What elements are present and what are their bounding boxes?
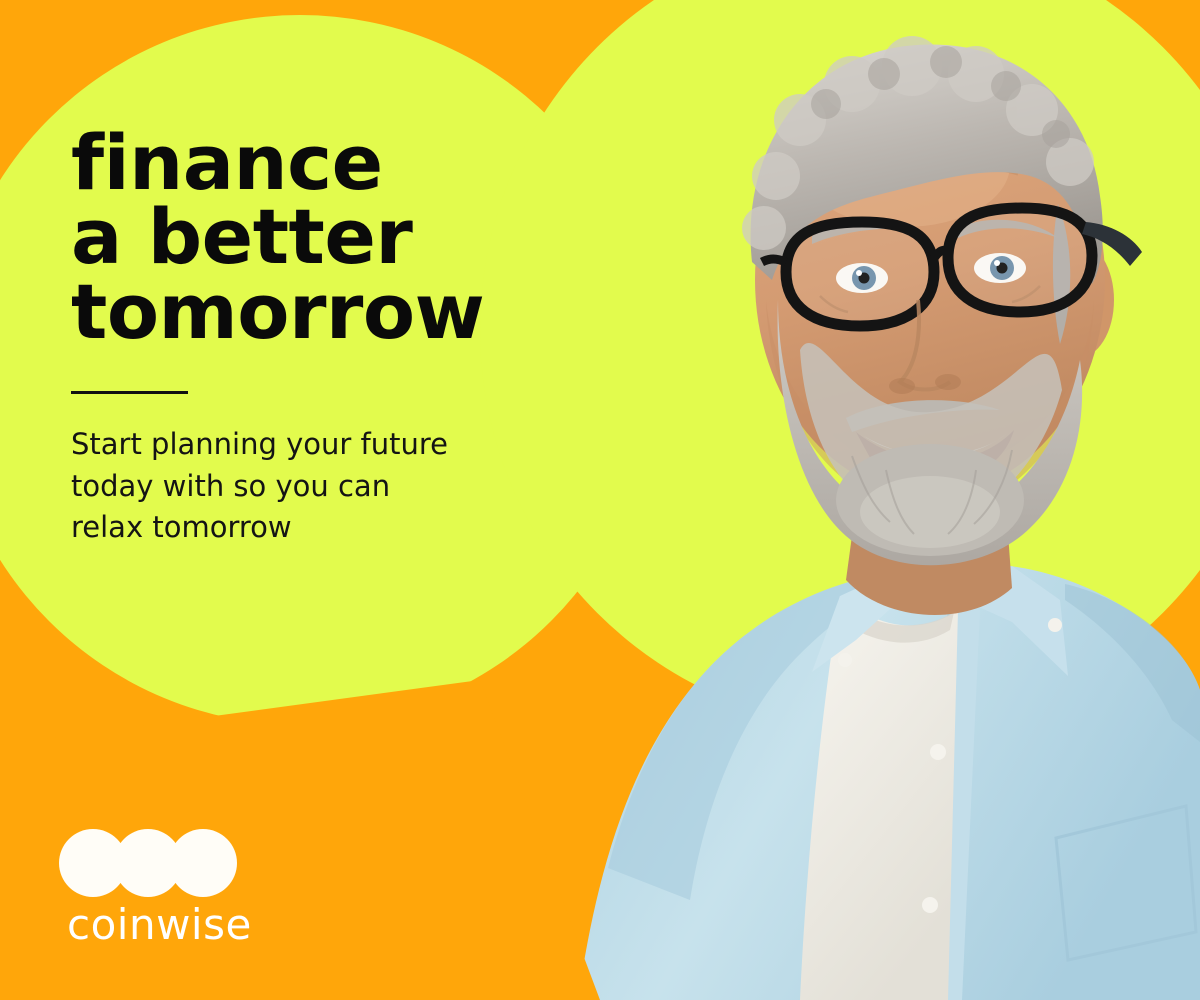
hero-subheadline: Start planning your future today with so… xyxy=(71,424,591,548)
hero-copy: finance a better tomorrow Start planning… xyxy=(71,126,591,548)
page-title: finance a better tomorrow xyxy=(71,126,591,349)
brand-wordmark: coinwise xyxy=(67,904,269,946)
three-circles-icon xyxy=(59,828,269,898)
brand-logo[interactable]: coinwise xyxy=(59,828,269,946)
promo-banner: finance a better tomorrow Start planning… xyxy=(0,0,1200,1000)
divider-rule xyxy=(71,391,188,394)
